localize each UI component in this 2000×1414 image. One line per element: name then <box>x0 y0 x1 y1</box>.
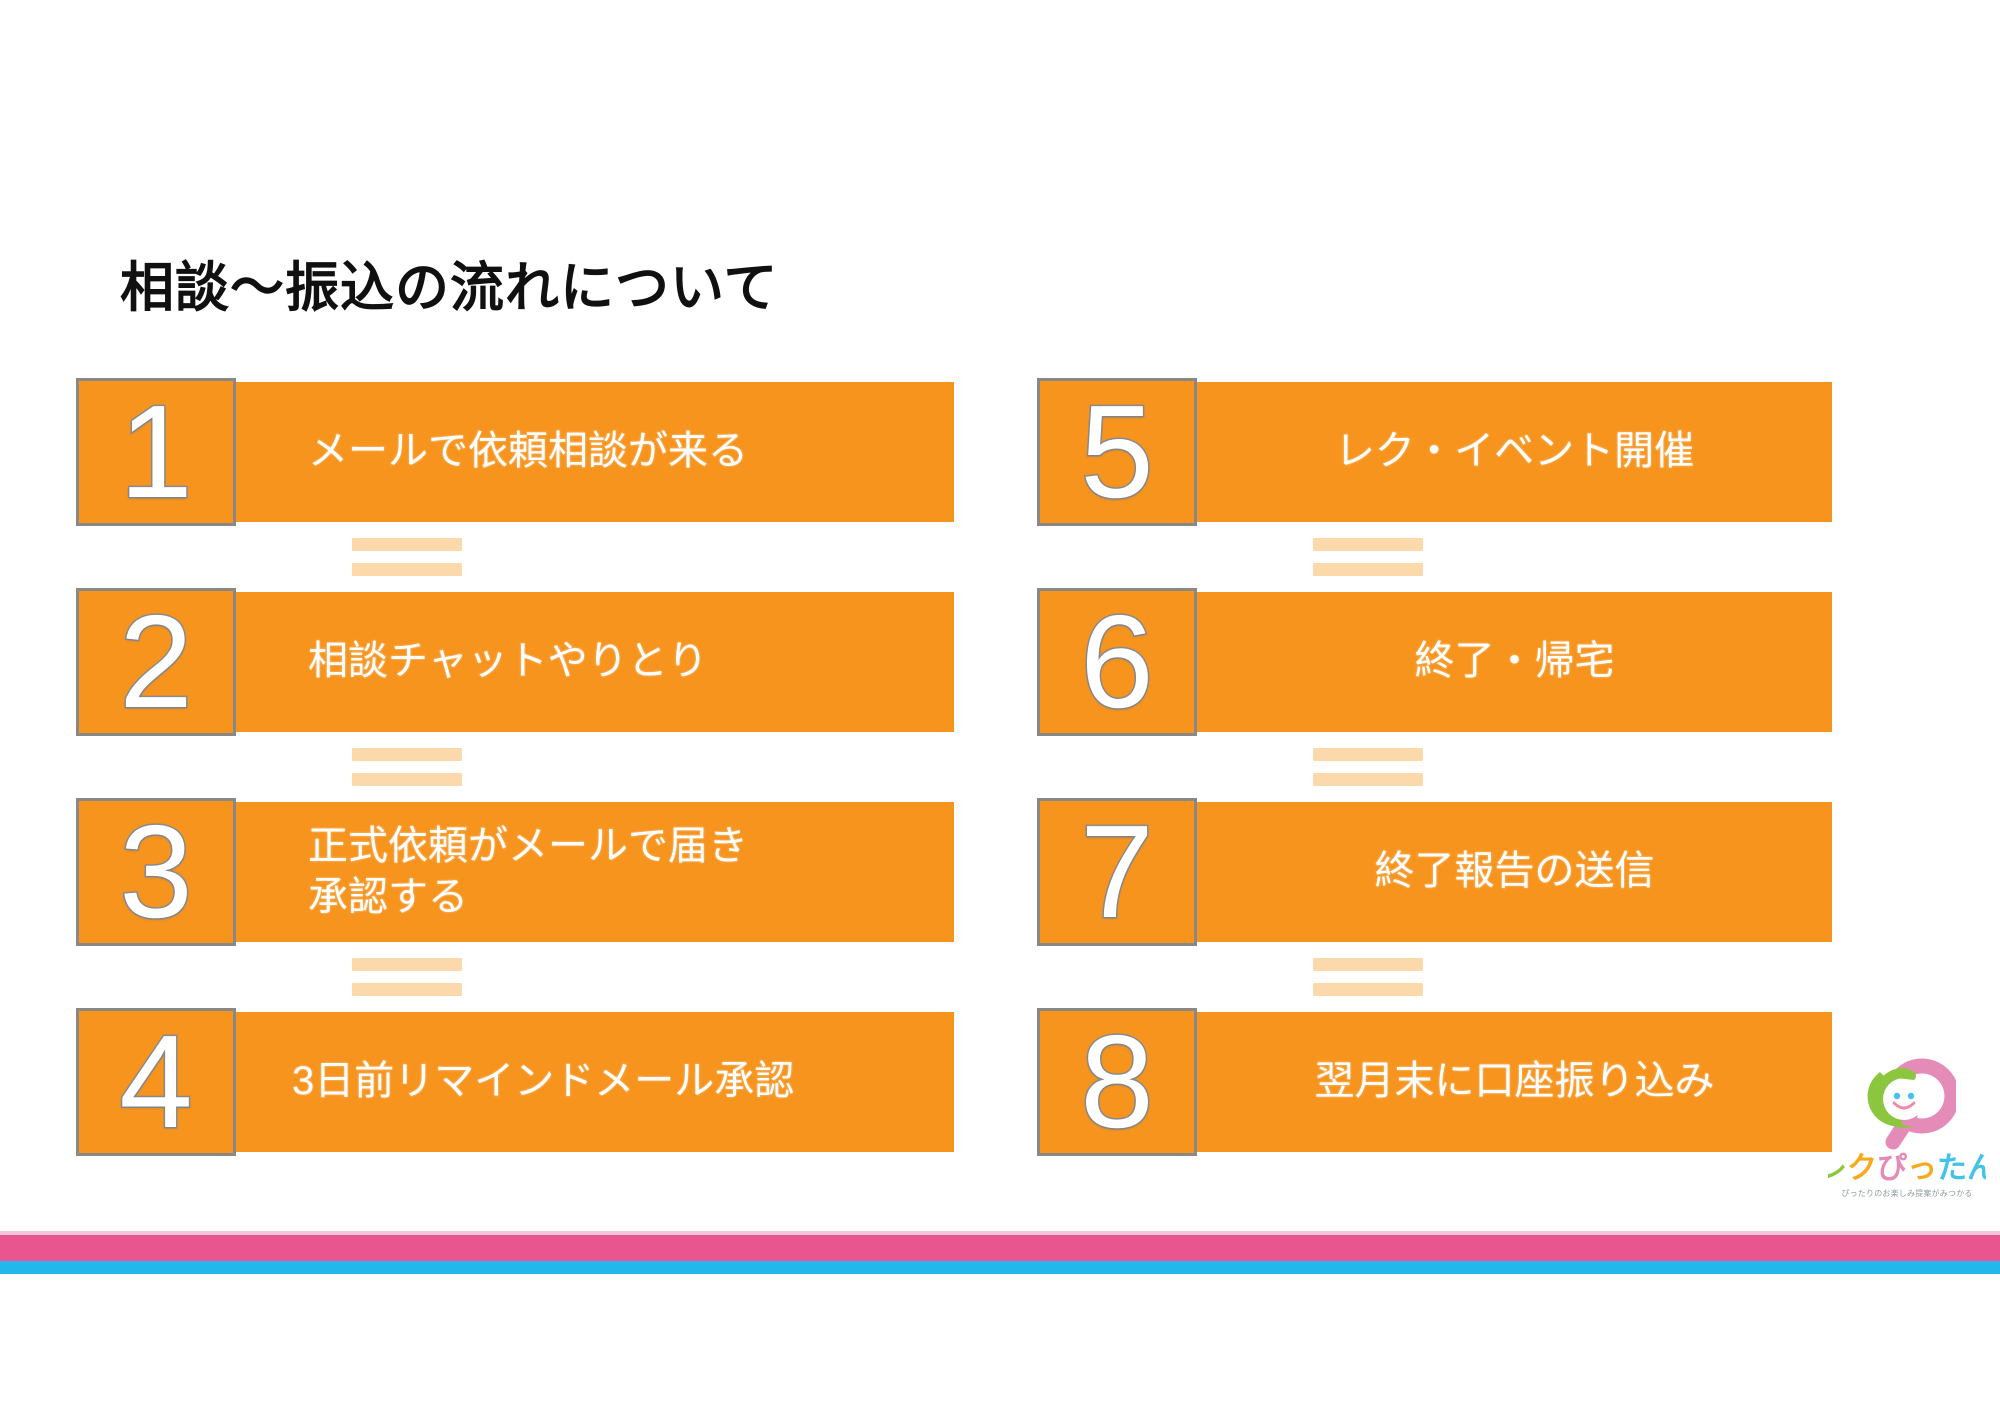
bottom-bar-cyan <box>0 1261 2000 1274</box>
step-bar-2: 相談チャットやりとり <box>236 592 954 732</box>
step-label-5: レク・イベント開催 <box>1197 426 1832 477</box>
magnifier-face-icon <box>1860 1058 1956 1150</box>
connector-bar-top <box>352 538 462 551</box>
step-number-box-8: 8 <box>1037 1008 1197 1156</box>
step-label-4: 3日前リマインドメール承認 <box>236 1056 794 1107</box>
step-number-3: 3 <box>79 806 233 938</box>
step-bar-4: 3日前リマインドメール承認 <box>236 1012 954 1152</box>
slide-canvas: 相談～振込の流れについて 1 メールで依頼相談が来る 2 相談チャットやりとり <box>0 0 2000 1414</box>
step-number-box-2: 2 <box>76 588 236 736</box>
page-title: 相談～振込の流れについて <box>120 243 778 322</box>
connector-bar-bottom <box>352 983 462 996</box>
connector-bar-bottom <box>1313 563 1423 576</box>
step-label-7: 終了報告の送信 <box>1197 846 1832 897</box>
connector-bar-top <box>1313 538 1423 551</box>
step-number-box-1: 1 <box>76 378 236 526</box>
connector-bar-bottom <box>352 563 462 576</box>
step-number-box-7: 7 <box>1037 798 1197 946</box>
step-number-6: 6 <box>1040 596 1194 728</box>
step-number-box-4: 4 <box>76 1008 236 1156</box>
step-bar-6: 終了・帰宅 <box>1197 592 1832 732</box>
step-bar-5: レク・イベント開催 <box>1197 382 1832 522</box>
connector-bar-bottom <box>1313 773 1423 786</box>
connector-bar-bottom <box>1313 983 1423 996</box>
step-number-2: 2 <box>79 596 233 728</box>
logo-tagline: ぴったりのお楽しみ提案がみつかる <box>1828 1188 1986 1199</box>
step-number-8: 8 <box>1040 1016 1194 1148</box>
step-number-box-6: 6 <box>1037 588 1197 736</box>
connector-bar-top <box>1313 748 1423 761</box>
step-number-7: 7 <box>1040 806 1194 938</box>
step-number-box-3: 3 <box>76 798 236 946</box>
step-bar-8: 翌月末に口座振り込み <box>1197 1012 1832 1152</box>
step-number-box-5: 5 <box>1037 378 1197 526</box>
step-bar-7: 終了報告の送信 <box>1197 802 1832 942</box>
step-number-5: 5 <box>1040 386 1194 518</box>
step-label-1: メールで依頼相談が来る <box>236 426 748 477</box>
connector-bar-top <box>352 958 462 971</box>
step-label-2: 相談チャットやりとり <box>236 636 708 687</box>
connector-bar-top <box>1313 958 1423 971</box>
step-label-3: 正式依頼がメールで届き 承認する <box>236 821 748 923</box>
step-label-6: 終了・帰宅 <box>1197 636 1832 687</box>
step-number-1: 1 <box>79 386 233 518</box>
step-number-4: 4 <box>79 1016 233 1148</box>
logo-wordmark: レクぴったん <box>1828 1148 1986 1191</box>
step-label-8: 翌月末に口座振り込み <box>1197 1056 1832 1107</box>
brand-logo: レクぴったん ぴったりのお楽しみ提案がみつかる <box>1828 1058 1986 1206</box>
step-bar-3: 正式依頼がメールで届き 承認する <box>236 802 954 942</box>
bottom-bar-pink <box>0 1235 2000 1261</box>
connector-bar-bottom <box>352 773 462 786</box>
step-bar-1: メールで依頼相談が来る <box>236 382 954 522</box>
svg-text:レクぴったん: レクぴったん <box>1828 1152 1986 1185</box>
connector-bar-top <box>352 748 462 761</box>
